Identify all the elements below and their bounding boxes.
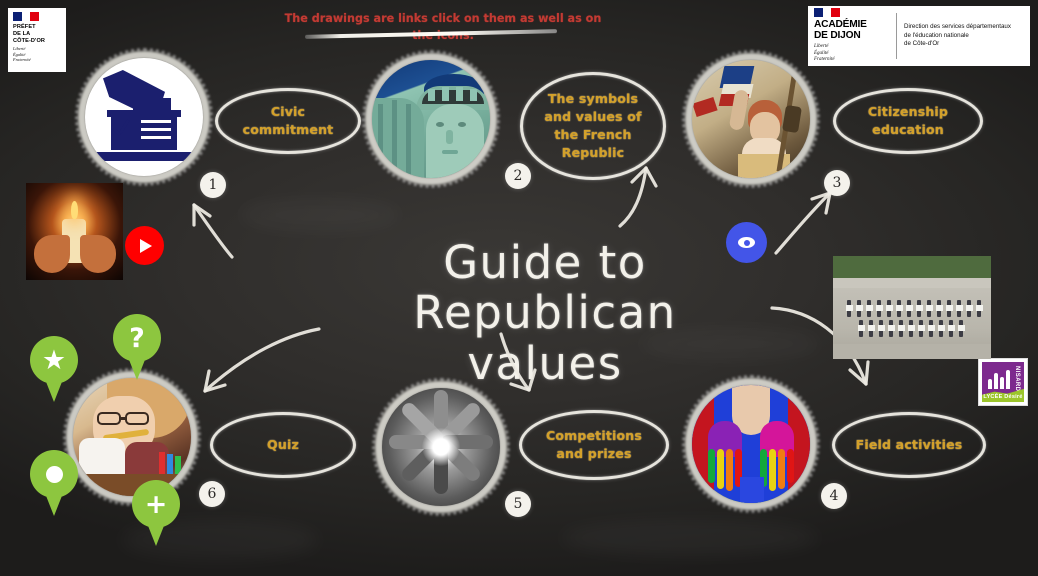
bubble-quiz-line1: Quiz [267,436,299,454]
lycee-nisard-logo[interactable]: NISARD LYCÉE Désiré [978,358,1028,406]
bubble-symbols-line1: The symbols [548,91,638,106]
candle-in-hands-photo[interactable] [26,183,123,280]
star-glyph: ★ [30,336,78,384]
prefecture-line2: DE LA [13,31,62,38]
school-group-aerial-photo[interactable] [833,256,991,359]
prefecture-line3: CÔTE-D'OR [13,38,62,45]
bubble-competitions-line2: and prizes [556,446,631,461]
bubble-competitions-and-prizes[interactable]: Competitionsand prizes [519,410,669,480]
page-title: Guide to Republican values [330,238,760,389]
bubble-quiz[interactable]: Quiz [210,412,356,478]
play-triangle-icon [140,239,152,253]
node-marianne-image[interactable] [692,60,810,178]
map-pin-plus-icon[interactable]: + [132,480,180,548]
arrow-to-node-3 [770,185,840,257]
french-flag-icon [13,12,39,21]
academy-desc-line3: de Côte-d'Or [904,40,1011,49]
statue-of-liberty-photo [372,60,490,178]
logo-divider [896,13,897,59]
bubble-civic-line2: commitment [243,122,334,137]
node-number-4: 4 [821,483,847,509]
bubble-competitions-line1: Competitions [546,428,642,443]
academy-motto-fraternite: Fraternité [814,57,890,64]
chalk-smudge [240,200,400,230]
academy-name-line2: DE DIJON [814,31,890,42]
eye-shape [738,237,755,248]
bubble-symbols-line3: the French [554,127,631,142]
node-number-2: 2 [505,163,531,189]
node-number-3: 3 [824,170,850,196]
node-number-1: 1 [200,172,226,198]
lycee-name: LYCÉE Désiré [982,394,1024,400]
node-statue-of-liberty-image[interactable] [372,60,490,178]
node-competitions-image[interactable] [382,388,500,506]
question-glyph: ? [113,314,161,362]
academy-desc-line1: Direction des services départementaux [904,23,1011,32]
arrow-to-node-6 [195,325,325,397]
lycee-vertical-text: NISARD [1014,366,1020,391]
plus-glyph: + [132,480,180,528]
header-instruction-note: The drawings are links click on them as … [283,10,603,45]
academy-logo[interactable]: ACADÉMIE DE DIJON Liberté Égalité Frater… [808,6,1030,66]
rainbow-painted-hands-photo [692,385,810,503]
lycee-mark-icon [988,367,1014,389]
bubble-civic-line1: Civic [271,104,305,119]
node-field-activities-image[interactable] [692,385,810,503]
student-with-glasses-photo [73,378,191,496]
bubble-symbols-line4: Republic [562,145,624,160]
dot-glyph [30,450,78,498]
bubble-civic-commitment[interactable]: Civiccommitment [215,88,361,154]
prefecture-logo[interactable]: PRÉFET DE LA CÔTE-D'OR Liberté Égalité F… [8,8,66,72]
youtube-icon[interactable] [125,226,164,265]
map-pin-question-icon[interactable]: ? [113,314,161,382]
node-civic-commitment-image[interactable] [85,58,203,176]
prefecture-motto-fraternite: Fraternité [13,57,62,63]
marianne-liberty-leading-the-people-painting [692,60,810,178]
arrow-to-node-1 [170,195,240,265]
voting-ballot-icon [85,58,203,176]
node-number-6: 6 [199,481,225,507]
node-quiz-image[interactable] [73,378,191,496]
map-pin-dot-icon[interactable] [30,450,78,518]
chalk-smudge [560,520,820,556]
bubble-citizenship-line2: education [872,122,944,137]
hands-circle-black-and-white-photo [382,388,500,506]
prefecture-line1: PRÉFET [13,24,62,31]
page-title-line1: Guide to [443,236,647,289]
french-flag-icon [814,8,840,17]
bubble-field-activities[interactable]: Field activities [832,412,986,478]
bubble-symbols-line2: and values of [544,109,641,124]
academy-desc-line2: de l'éducation nationale [904,32,1011,41]
bubble-symbols-and-values[interactable]: The symbols and values of the French Rep… [520,72,666,180]
node-number-5: 5 [505,491,531,517]
eye-icon[interactable] [726,222,767,263]
chalkboard-canvas: PRÉFET DE LA CÔTE-D'OR Liberté Égalité F… [0,0,1038,576]
bubble-field-line1: Field activities [856,436,963,454]
page-title-line2: Republican values [330,288,760,389]
map-pin-star-icon[interactable]: ★ [30,336,78,404]
bubble-citizenship-education[interactable]: Citizenshipeducation [833,88,983,154]
bubble-citizenship-line1: Citizenship [868,104,948,119]
